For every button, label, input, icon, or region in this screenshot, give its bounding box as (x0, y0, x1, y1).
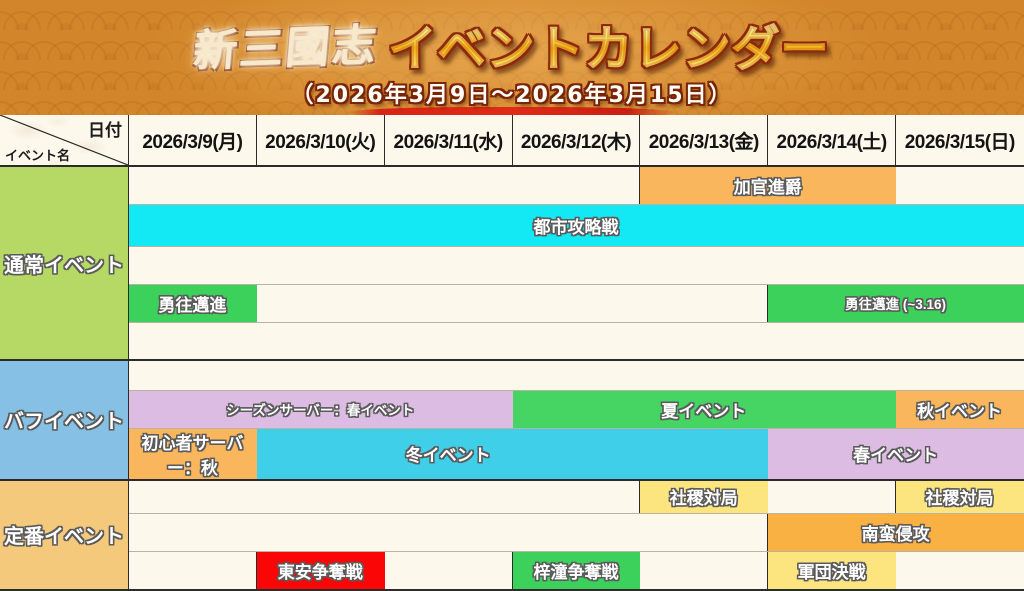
section-label-normal: 通常イベント (0, 166, 129, 360)
event-cell[interactable]: 梓潼争奪戦 (512, 552, 640, 590)
calendar-row: バフイベント (0, 360, 1024, 390)
event-cell[interactable]: 都市攻略戦 (129, 204, 1024, 246)
event-cell[interactable]: 軍団決戦 (768, 552, 896, 590)
empty-cell (256, 284, 767, 322)
empty-cell (129, 246, 1024, 284)
event-cell[interactable]: 東安争奪戦 (256, 552, 384, 590)
empty-cell (129, 166, 640, 204)
calendar-header-row: 日付 イベント名 2026/3/9(月) 2026/3/10(火) 2026/3… (0, 115, 1024, 166)
calendar-row: 都市攻略戦 (0, 204, 1024, 246)
page-title: イベントカレンダー (388, 9, 829, 79)
calendar-row: 初心者サーバー：秋冬イベント春イベント (0, 428, 1024, 480)
calendar-row: 東安争奪戦梓潼争奪戦軍団決戦 (0, 552, 1024, 590)
empty-cell (640, 428, 768, 480)
empty-cell (129, 360, 1024, 390)
day-header-2: 2026/3/11(水) (384, 115, 512, 166)
empty-cell (896, 552, 1024, 590)
calendar-row (0, 322, 1024, 360)
calendar-row: 通常イベント加官進爵 (0, 166, 1024, 204)
calendar-body: 通常イベント加官進爵都市攻略戦勇往邁進勇往邁進 (~3.16)バフイベントシーズ… (0, 166, 1024, 590)
section-label-buff: バフイベント (0, 360, 129, 480)
event-cell[interactable]: 南蛮侵攻 (768, 514, 1024, 552)
calendar-row: 南蛮侵攻 (0, 514, 1024, 552)
calendar-row (0, 246, 1024, 284)
day-header-6: 2026/3/15(日) (896, 115, 1024, 166)
event-cell[interactable]: 夏イベント (512, 390, 896, 428)
game-logo-text: 新三國志 (191, 8, 387, 79)
day-header-0: 2026/3/9(月) (129, 115, 257, 166)
banner-title-row: 新三國志 イベントカレンダー (194, 9, 829, 79)
event-cell[interactable]: 加官進爵 (640, 166, 896, 204)
banner-subtitle-wrap: （2026年3月9日～2026年3月15日） (292, 77, 733, 109)
event-cell[interactable]: 勇往邁進 (129, 284, 257, 322)
day-header-5: 2026/3/14(土) (768, 115, 896, 166)
empty-cell (896, 166, 1024, 204)
event-cell[interactable]: 勇往邁進 (~3.16) (768, 284, 1024, 322)
empty-cell (768, 480, 896, 514)
page-banner: 新三國志 イベントカレンダー （2026年3月9日～2026年3月15日） (0, 0, 1024, 115)
empty-cell (129, 514, 768, 552)
event-cell[interactable]: 春イベント (768, 428, 1024, 480)
corner-date-label: 日付 (88, 116, 122, 141)
event-calendar-table: 日付 イベント名 2026/3/9(月) 2026/3/10(火) 2026/3… (0, 115, 1024, 591)
calendar-row: 勇往邁進勇往邁進 (~3.16) (0, 284, 1024, 322)
empty-cell (384, 552, 512, 590)
date-range-subtitle: （2026年3月9日～2026年3月15日） (292, 77, 733, 109)
day-header-1: 2026/3/10(火) (256, 115, 384, 166)
day-header-4: 2026/3/13(金) (640, 115, 768, 166)
day-header-3: 2026/3/12(木) (512, 115, 640, 166)
empty-cell (129, 552, 257, 590)
calendar-head: 日付 イベント名 2026/3/9(月) 2026/3/10(火) 2026/3… (0, 115, 1024, 166)
calendar-row: 定番イベント社稷対局社稷対局 (0, 480, 1024, 514)
corner-event-label: イベント名 (5, 145, 70, 164)
section-label-staple: 定番イベント (0, 480, 129, 590)
event-cell[interactable]: 秋イベント (896, 390, 1024, 428)
empty-cell (129, 322, 1024, 360)
empty-cell (129, 480, 640, 514)
event-cell[interactable]: 初心者サーバー：秋 (129, 428, 257, 480)
event-cell[interactable]: 冬イベント (256, 428, 640, 480)
event-cell[interactable]: 社稷対局 (896, 480, 1024, 514)
event-cell[interactable]: 社稷対局 (640, 480, 768, 514)
event-cell[interactable]: シーズンサーバー：春イベント (129, 390, 513, 428)
corner-header-cell: 日付 イベント名 (0, 115, 129, 166)
calendar-row: シーズンサーバー：春イベント夏イベント秋イベント (0, 390, 1024, 428)
empty-cell (640, 552, 768, 590)
